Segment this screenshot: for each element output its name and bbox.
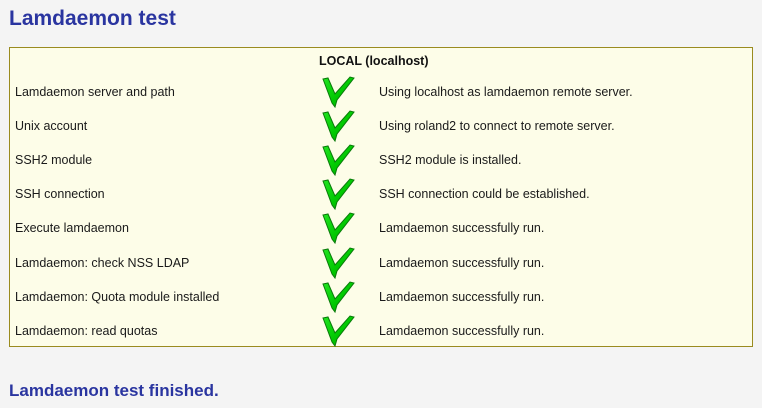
test-name-label: SSH connection (15, 187, 105, 201)
test-status-message: SSH connection could be established. (379, 187, 590, 201)
table-row: Lamdaemon: check NSS LDAP Lamdae (10, 247, 752, 281)
test-name-label: Execute lamdaemon (15, 221, 129, 235)
table-row: Lamdaemon: Quota module installed (10, 281, 752, 315)
test-status-message: Lamdaemon successfully run. (379, 290, 544, 304)
green-check-icon (319, 74, 357, 110)
green-check-icon (319, 142, 357, 178)
column-header-local: LOCAL (localhost) (319, 54, 429, 68)
green-check-icon (319, 279, 357, 315)
green-check-icon (319, 210, 357, 246)
table-row: Lamdaemon: read quotas Lamdaemon (10, 315, 752, 349)
test-name-label: Lamdaemon: read quotas (15, 324, 157, 338)
test-status-message: Lamdaemon successfully run. (379, 221, 544, 235)
test-status-message: SSH2 module is installed. (379, 153, 521, 167)
test-status-message: Using roland2 to connect to remote serve… (379, 119, 615, 133)
green-check-icon (319, 313, 357, 349)
green-check-icon (319, 108, 357, 144)
test-name-label: Lamdaemon: Quota module installed (15, 290, 219, 304)
test-name-label: Lamdaemon server and path (15, 85, 175, 99)
green-check-icon (319, 176, 357, 212)
lamdaemon-test-results-table: LOCAL (localhost) Lamdaemon server and p… (9, 47, 753, 347)
table-row: Unix account Using roland2 to co (10, 110, 752, 144)
test-status-message: Lamdaemon successfully run. (379, 324, 544, 338)
test-finished-heading: Lamdaemon test finished. (9, 381, 219, 401)
test-status-message: Using localhost as lamdaemon remote serv… (379, 85, 633, 99)
table-row: SSH2 module SSH2 module is insta (10, 144, 752, 178)
green-check-icon (319, 245, 357, 281)
table-row: Lamdaemon server and path Using (10, 76, 752, 110)
table-inner: LOCAL (localhost) Lamdaemon server and p… (10, 48, 752, 346)
test-name-label: Lamdaemon: check NSS LDAP (15, 256, 189, 270)
table-row: SSH connection SSH connection co (10, 178, 752, 212)
test-name-label: SSH2 module (15, 153, 92, 167)
lamdaemon-test-page: Lamdaemon test LOCAL (localhost) Lamdaem… (0, 0, 762, 408)
test-name-label: Unix account (15, 119, 87, 133)
table-row: Execute lamdaemon Lamdaemon succ (10, 212, 752, 246)
page-title: Lamdaemon test (9, 7, 176, 31)
test-status-message: Lamdaemon successfully run. (379, 256, 544, 270)
